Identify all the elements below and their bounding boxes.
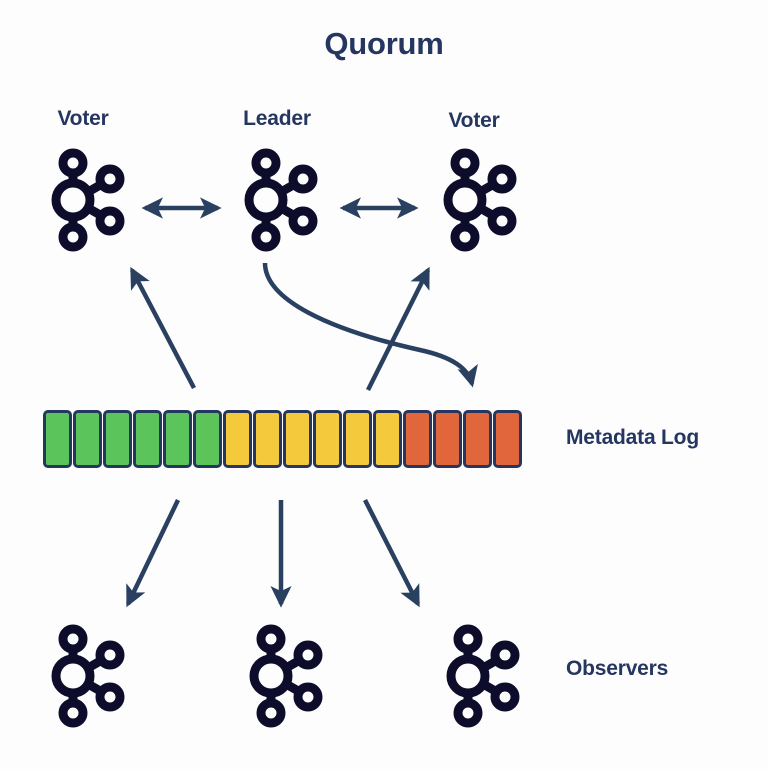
connector-log-to-voter-right [368, 270, 428, 390]
log-segment-12[interactable] [373, 410, 402, 468]
log-segment-10[interactable] [313, 410, 342, 468]
connector-log-to-observer-1 [128, 500, 178, 604]
log-segment-15[interactable] [463, 410, 492, 468]
connector-leader-to-log [265, 263, 472, 384]
node-label-voter-right: Voter [404, 109, 544, 133]
node-label-voter-left: Voter [13, 107, 153, 131]
metadata-log-label: Metadata Log [566, 426, 699, 450]
log-segment-2[interactable] [73, 410, 102, 468]
node-observer-1[interactable] [56, 629, 120, 723]
node-leader[interactable] [249, 153, 313, 247]
node-label-leader: Leader [207, 107, 347, 131]
log-segment-11[interactable] [343, 410, 372, 468]
node-voter-left[interactable] [56, 153, 120, 247]
log-segment-7[interactable] [223, 410, 252, 468]
log-segment-1[interactable] [43, 410, 72, 468]
observers-label: Observers [566, 657, 668, 681]
log-segment-5[interactable] [163, 410, 192, 468]
metadata-log-bar[interactable] [43, 410, 522, 468]
log-segment-16[interactable] [493, 410, 522, 468]
log-segment-14[interactable] [433, 410, 462, 468]
connector-log-to-observer-3 [365, 500, 418, 604]
log-segment-3[interactable] [103, 410, 132, 468]
log-segment-6[interactable] [193, 410, 222, 468]
node-observer-3[interactable] [451, 629, 515, 723]
connector-log-to-voter-left [132, 270, 194, 388]
log-segment-4[interactable] [133, 410, 162, 468]
log-segment-13[interactable] [403, 410, 432, 468]
quorum-diagram: Quorum [0, 0, 768, 769]
log-segment-9[interactable] [283, 410, 312, 468]
node-voter-right[interactable] [448, 153, 512, 247]
node-observer-2[interactable] [254, 629, 318, 723]
log-segment-8[interactable] [253, 410, 282, 468]
